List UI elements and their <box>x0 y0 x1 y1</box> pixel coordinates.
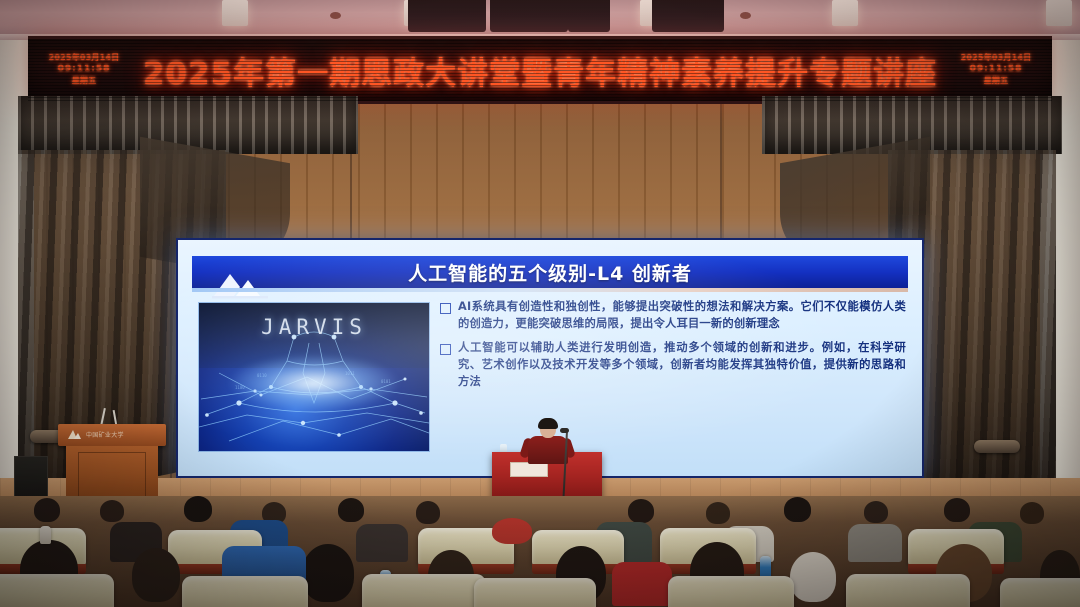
led-banner: 2025年03月14日 09:11:58 星期五 2025年第一期思政大讲堂暨青… <box>28 36 1052 104</box>
auditorium-seat <box>0 574 114 607</box>
mountain-logo <box>68 429 81 440</box>
stage-light-fixture <box>490 0 568 32</box>
auditorium-seat <box>362 574 486 607</box>
audience-member <box>944 498 970 522</box>
slide-image-jarvis: 01101011 01011100 JARVIS <box>198 302 430 452</box>
ceiling-light <box>832 0 858 26</box>
bullet-text: 人工智能可以辅助人类进行发明创造，推动多个领域的创新和进步。例如，在科学研究、艺… <box>458 339 906 390</box>
ceiling-downlight <box>740 12 751 19</box>
auditorium-photo: 2025年03月14日 09:11:58 星期五 2025年第一期思政大讲堂暨青… <box>0 0 1080 607</box>
presenter-hair <box>538 418 558 429</box>
audience-member <box>132 548 180 602</box>
audience-member <box>784 497 811 522</box>
led-time-right: 09:11:58 <box>970 64 1023 74</box>
audience-member <box>864 501 888 523</box>
auditorium-seat <box>846 574 970 607</box>
audience-member <box>34 498 60 522</box>
lectern-institution-label: 中国矿业大学 <box>86 430 124 439</box>
name-plate <box>510 462 548 477</box>
bullet-square-icon <box>440 303 451 314</box>
audience-member <box>790 552 836 602</box>
ceiling-light <box>1046 0 1072 26</box>
led-time-left: 09:11:58 <box>58 64 111 74</box>
bullet-text: AI系统具有创造性和独创性，能够提出突破性的想法和解决方案。它们不仅能模仿人类的… <box>458 298 906 332</box>
led-date-left: 2025年03月14日 <box>49 52 120 63</box>
audience-member <box>302 544 354 602</box>
audience-member <box>1020 502 1044 524</box>
stage-light-fixture <box>652 0 724 32</box>
audience-member-red-cap <box>492 518 532 544</box>
audience-member <box>356 524 408 562</box>
led-date-right: 2025年03月14日 <box>961 52 1032 63</box>
stage-light-fixture <box>568 0 610 32</box>
microphone-head <box>560 428 569 433</box>
auditorium-seat <box>182 576 308 607</box>
audience-member <box>100 500 124 522</box>
auditorium-seat <box>1000 578 1080 607</box>
slide-title-underline <box>192 288 908 292</box>
led-banner-title: 2025年第一期思政大讲堂暨青年精神素养提升专题讲座 <box>128 43 952 97</box>
audience-member <box>416 501 440 524</box>
slide-title-bar: 人工智能的五个级别-L4 创新者 <box>192 256 908 288</box>
jarvis-caption: JARVIS <box>199 315 429 339</box>
slide-bullet-item: AI系统具有创造性和独创性，能够提出突破性的想法和解决方案。它们不仅能模仿人类的… <box>440 298 906 332</box>
led-weekday-right: 星期五 <box>984 75 1009 86</box>
stage-light-fixture <box>408 0 486 32</box>
slide-bullet-list: AI系统具有创造性和独创性，能够提出突破性的想法和解决方案。它们不仅能模仿人类的… <box>440 298 906 466</box>
audience-member <box>628 499 654 523</box>
audience-area <box>0 496 1080 607</box>
slide-title-text: 人工智能的五个级别-L4 创新者 <box>408 259 692 286</box>
bullet-square-icon <box>440 344 451 355</box>
auditorium-seat <box>474 578 596 607</box>
lectern-top: 中国矿业大学 <box>58 424 166 446</box>
presenter-torso <box>528 436 568 464</box>
led-clock-right: 2025年03月14日 09:11:58 星期五 <box>948 43 1044 95</box>
audience-member <box>706 502 730 524</box>
audience-member-red-jacket <box>612 562 672 606</box>
led-weekday-left: 星期五 <box>72 75 97 86</box>
audience-member <box>338 498 364 522</box>
slide-title: 人工智能的五个级别-L4 创新者 <box>192 256 908 288</box>
ceiling-downlight <box>330 12 341 19</box>
led-clock-left: 2025年03月14日 09:11:58 星期五 <box>36 43 132 95</box>
curtain-tieback-right <box>974 440 1020 453</box>
audience-member <box>184 496 212 522</box>
auditorium-seat <box>668 576 794 607</box>
slide-bullet-item: 人工智能可以辅助人类进行发明创造，推动多个领域的创新和进步。例如，在科学研究、艺… <box>440 339 906 390</box>
led-banner-text: 2025年第一期思政大讲堂暨青年精神素养提升专题讲座 <box>143 48 937 93</box>
audience-member <box>848 524 902 562</box>
water-bottle <box>40 526 51 544</box>
ceiling-light <box>222 0 248 26</box>
